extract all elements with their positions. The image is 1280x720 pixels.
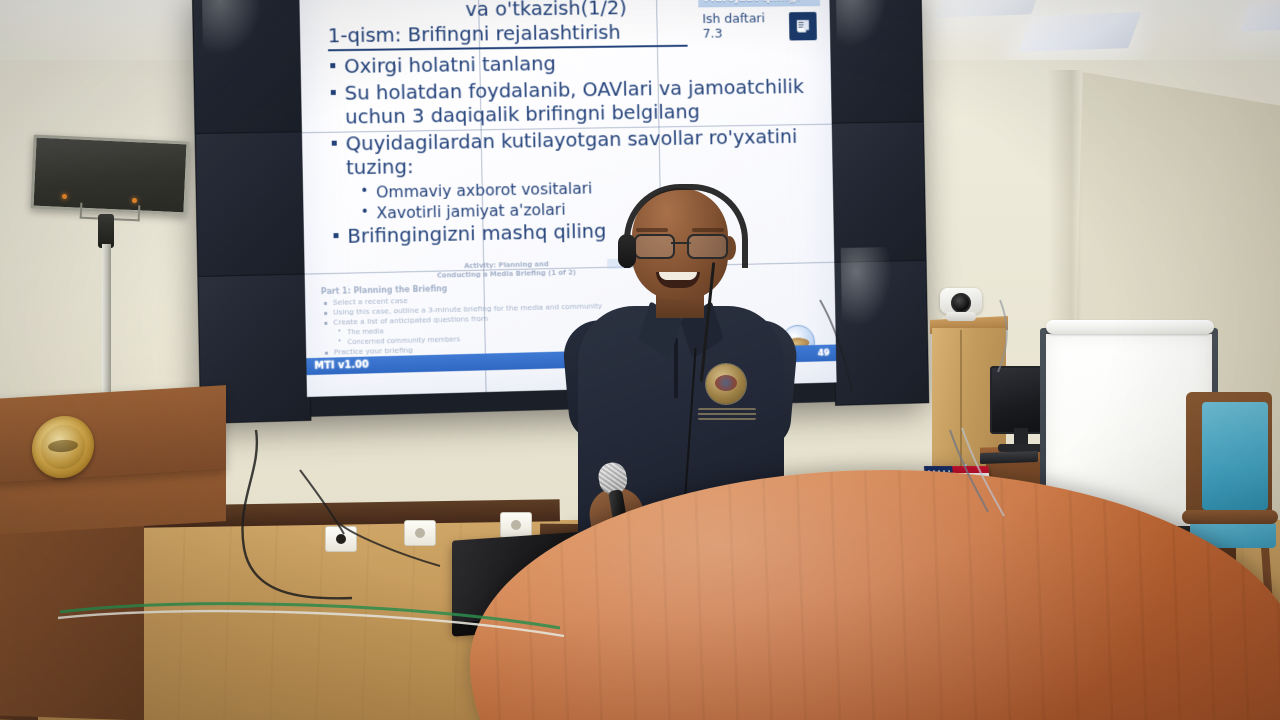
camera-base [946, 312, 976, 321]
slide-bullet: Su holatdan foydalanib, OAVlari va jamoa… [329, 74, 813, 129]
slide-subtitle: 1-qism: Brifingni rejalashtirish [328, 20, 688, 51]
video-wall-panel [832, 260, 929, 406]
sub-slide-part-label: Part 1: Planning the Briefing [321, 284, 448, 296]
power-outlet [500, 512, 532, 538]
podium [0, 392, 230, 720]
power-outlet [325, 526, 357, 552]
book-icon [789, 11, 817, 40]
slide-page-number: 49 [811, 348, 836, 358]
refer-to-body: Ish daftari 7.3 [698, 6, 820, 44]
refer-to-callout: Murojaat qiling: Ish daftari 7.3 [698, 0, 821, 44]
chair-armrest [1182, 510, 1278, 524]
government-seal-icon [706, 364, 746, 404]
video-wall-panel [830, 121, 927, 265]
slide-bullet: Quyidagilardan kutilayotgan savollar ro'… [330, 124, 814, 180]
chair-back [1186, 392, 1272, 520]
shirt-placket [674, 338, 678, 398]
shirt-embroidered-text [698, 408, 756, 420]
refer-to-text: Ish daftari 7.3 [702, 11, 783, 41]
camera-lens [951, 293, 971, 313]
chair-cushion [1202, 402, 1268, 510]
photo-scene: Faoliyat: OAV brifingni rejalashtirish v… [0, 0, 1280, 720]
headset-earcup [618, 234, 636, 268]
power-outlet [404, 520, 436, 546]
podium-base [0, 515, 144, 720]
flipchart-paper-roll [1046, 320, 1214, 334]
slide-title-line2: va o'tkazish(1/2) [341, 0, 748, 22]
slide-title: Faoliyat: OAV brifingni rejalashtirish v… [340, 0, 748, 22]
video-wall-panel [192, 0, 306, 136]
panel-mount [98, 214, 114, 248]
video-wall-panel [195, 131, 309, 279]
podium-top [0, 385, 226, 483]
video-wall-panel [827, 0, 924, 126]
conference-camera-icon [938, 288, 984, 324]
headset-icon [624, 184, 748, 268]
ceiling-light [1019, 12, 1142, 52]
slide-footer-version: MTI v1.00 [306, 356, 491, 372]
slide-bullet: Oxirgi holatni tanlang [328, 48, 812, 78]
